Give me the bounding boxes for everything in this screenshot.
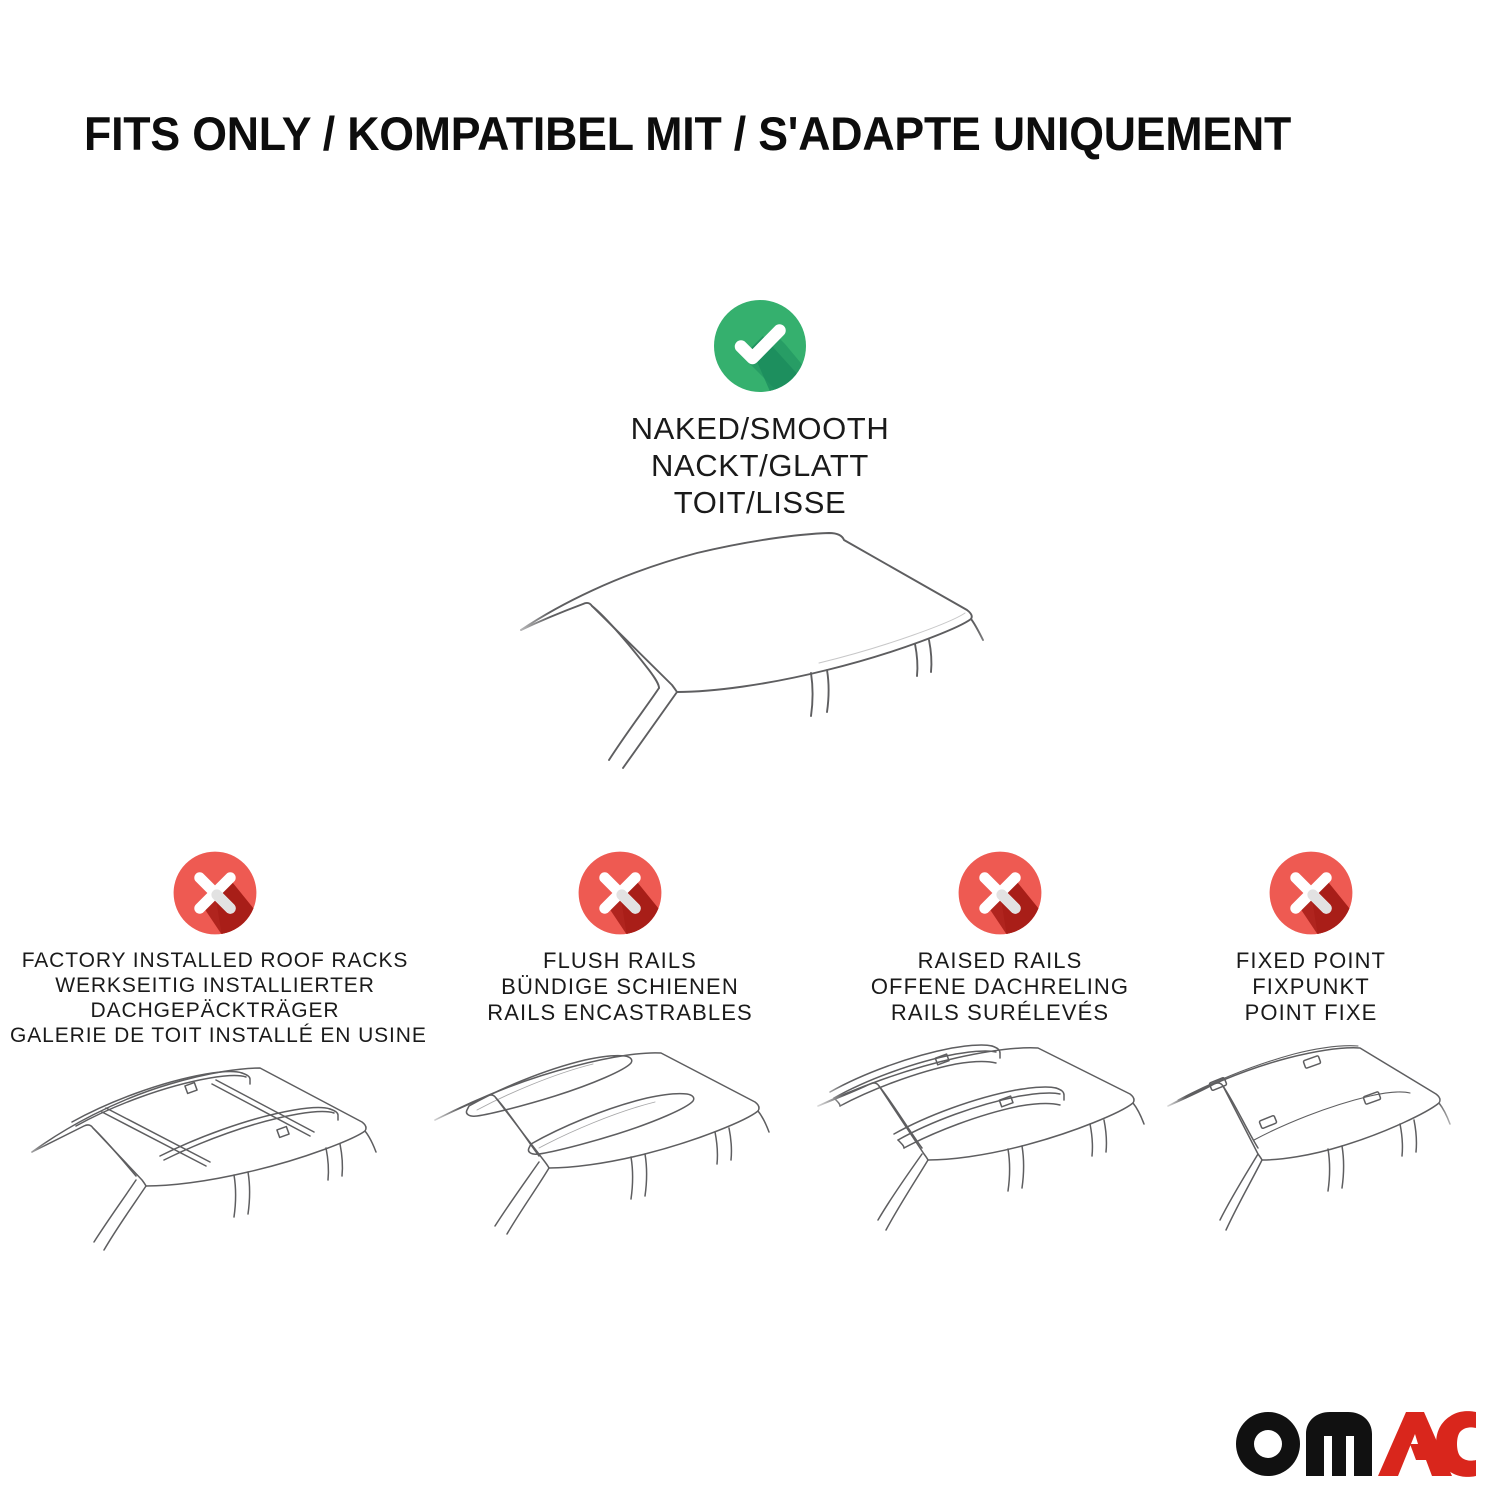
label-line-3: DACHGEPÄCKTRÄGER — [10, 998, 420, 1023]
check-circle-icon — [710, 296, 810, 396]
compatible-label-line-3: TOIT/LISSE — [500, 484, 1020, 521]
label-line-2: BÜNDIGE SCHIENEN — [425, 974, 815, 1000]
label-line-1: FACTORY INSTALLED ROOF RACKS — [10, 948, 420, 973]
cross-circle-icon — [575, 848, 665, 938]
cross-circle-icon — [955, 848, 1045, 938]
badge-wrap — [10, 848, 420, 938]
cross-circle-icon — [170, 848, 260, 938]
compatible-label-line-2: NACKT/GLATT — [500, 447, 1020, 484]
badge-wrap — [425, 848, 815, 938]
incompatible-sections: FACTORY INSTALLED ROOF RACKS WERKSEITIG … — [0, 848, 1500, 1288]
label-line-3: RAILS SURÉLEVÉS — [810, 1000, 1190, 1026]
label-line-2: WERKSEITIG INSTALLIERTER — [10, 973, 420, 998]
roof-illustration-raised-rails — [810, 1044, 1190, 1274]
label-line-3: RAILS ENCASTRABLES — [425, 1000, 815, 1026]
incompatible-section-factory-rack: FACTORY INSTALLED ROOF RACKS WERKSEITIG … — [10, 848, 420, 1048]
label-line-1: RAISED RAILS — [810, 948, 1190, 974]
compatible-section: NAKED/SMOOTH NACKT/GLATT TOIT/LISSE — [500, 296, 1020, 521]
roof-illustration-factory-rack — [10, 1044, 420, 1274]
compatible-badge-wrap — [500, 296, 1020, 396]
badge-wrap — [810, 848, 1190, 938]
label-line-3: POINT FIXE — [1180, 1000, 1442, 1026]
roof-illustration-flush-rails — [425, 1044, 815, 1274]
roof-illustration-naked-smooth — [497, 520, 1027, 800]
page-title: FITS ONLY / KOMPATIBEL MIT / S'ADAPTE UN… — [84, 108, 1357, 160]
incompatible-section-fixed-point: FIXED POINT FIXPUNKT POINT FIXE — [1180, 848, 1442, 1026]
roof-illustration-fixed-point — [1162, 1044, 1462, 1274]
incompatible-section-flush-rails: FLUSH RAILS BÜNDIGE SCHIENEN RAILS ENCAS… — [425, 848, 815, 1026]
label-line-1: FIXED POINT — [1180, 948, 1442, 974]
badge-wrap — [1180, 848, 1442, 938]
compatible-label-line-1: NAKED/SMOOTH — [500, 410, 1020, 447]
omac-logo — [1232, 1408, 1476, 1480]
label-line-2: FIXPUNKT — [1180, 974, 1442, 1000]
cross-circle-icon — [1266, 848, 1356, 938]
label-line-1: FLUSH RAILS — [425, 948, 815, 974]
incompatible-section-raised-rails: RAISED RAILS OFFENE DACHRELING RAILS SUR… — [810, 848, 1190, 1026]
label-line-2: OFFENE DACHRELING — [810, 974, 1190, 1000]
